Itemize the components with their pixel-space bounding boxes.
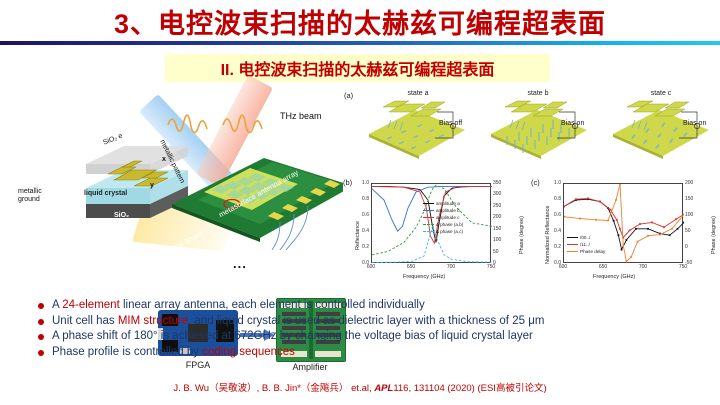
bullet-dot-icon: [38, 319, 44, 325]
legend-label: amplitude c: [436, 214, 460, 221]
thz-beam-label: THz beam: [280, 112, 322, 122]
legend-label: amplitude b: [436, 207, 460, 214]
y-tick-label: 0.8: [356, 196, 369, 202]
chart-c: (c) 6006507007500.00.20.40.60.81.0-50050…: [531, 178, 719, 290]
bullet-plain: A phase shift of 180° is achieved at 672…: [52, 330, 533, 342]
bullet-text: Unit cell has MIM structure, and liquid …: [52, 315, 544, 327]
citation-details: 116, 131104 (2020) (ESI高被引论文): [393, 383, 546, 394]
legend-entry: amplitude a: [423, 200, 463, 207]
schematic-illustration: THz beam SiO₂ e metallic pattern liquid …: [18, 90, 343, 295]
legend-entry: amplitude c: [423, 214, 463, 221]
bullet-highlight: MIM structure: [118, 315, 188, 327]
y2-tick-label: 100: [493, 237, 501, 243]
y2-tick-label: 200: [685, 180, 693, 186]
fpga-label: FPGA: [158, 360, 238, 370]
bullet-plain: , and liquid crystal is used as dielectr…: [188, 315, 544, 327]
bullet-dot-icon: [38, 334, 44, 340]
legend-swatch-icon: [423, 217, 434, 218]
bullet-item: Unit cell has MIM structure, and liquid …: [38, 315, 698, 327]
unit-cell-states-graphic: [343, 98, 719, 168]
legend-swatch-icon: [423, 224, 434, 225]
bullet-plain: Unit cell has: [52, 315, 118, 327]
bullet-item: A phase shift of 180° is achieved at 672…: [38, 330, 698, 342]
legend-swatch-icon: [423, 203, 434, 204]
bullet-text: A phase shift of 180° is achieved at 672…: [52, 330, 533, 342]
page-title: 3、电控波束扫描的太赫兹可编程超表面: [0, 2, 720, 41]
ellipsis-label: ...: [233, 257, 247, 271]
legend-label: Δ phase (a,b): [436, 221, 463, 228]
bullet-list: A 24-element linear array antenna, each …: [38, 299, 698, 361]
bullet-text: A 24-element linear array antenna, each …: [52, 299, 425, 311]
y-tick-label: 0.6: [356, 212, 369, 218]
legend-entry: Phase delay: [567, 248, 605, 255]
x-tick-label: 650: [599, 264, 607, 270]
y2-tick-label: 50: [685, 228, 691, 234]
x-tick-label: 650: [407, 264, 415, 270]
chart-c-y2label: Phase (degree): [711, 216, 717, 254]
legend-entry: /00../: [567, 234, 605, 241]
legend-swatch-icon: [423, 231, 434, 232]
x-tick-label: 700: [447, 264, 455, 270]
bullet-item: A 24-element linear array antenna, each …: [38, 299, 698, 311]
legend-entry: amplitude b: [423, 207, 463, 214]
chart-b: (b) 6006507007500.00.20.40.60.81.0050100…: [343, 178, 527, 290]
citation-line: J. B. Wu（吴敬波）, B. B. Jin*（金飚兵） et.al, AP…: [0, 380, 720, 394]
y2-tick-label: 150: [493, 226, 501, 232]
bullet-dot-icon: [38, 350, 44, 356]
legend-label: Δ phase (a,c): [436, 228, 463, 235]
metallic-ground-label: metallic ground: [18, 188, 42, 203]
legend-swatch-icon: [423, 210, 434, 211]
bias-on-label-b: Bias on: [561, 120, 584, 127]
bullet-plain: A: [52, 299, 62, 311]
y2-tick-label: 100: [685, 212, 693, 218]
chart-b-xlabel: Frequency (GHz): [403, 274, 445, 280]
chart-b-ylabel: Reflectance: [355, 221, 361, 250]
bullet-highlight: 24-element: [62, 299, 120, 311]
chart-b-y2label: Phase (degree): [519, 216, 525, 254]
amplifier-label: Amplifier: [270, 362, 350, 372]
legend-label: /11../: [580, 241, 590, 248]
y2-tick-label: 200: [493, 214, 501, 220]
section-banner: II. 电控波束扫描的太赫兹可编程超表面: [165, 54, 550, 82]
chart-b-tag: (b): [343, 178, 352, 187]
y2-tick-label: 150: [685, 196, 693, 202]
legend-swatch-icon: [567, 244, 578, 245]
legend-label: Phase delay: [580, 248, 605, 255]
legend-label: amplitude a: [436, 200, 460, 207]
title-divider: [0, 41, 720, 45]
y2-tick-label: -50: [685, 260, 692, 266]
bullet-item: Phase profile is controlled by coding se…: [38, 346, 698, 358]
state-b-label: state b: [508, 90, 568, 97]
chart-c-ylabel: Normalized Reflectance: [545, 206, 551, 264]
axis-y-label: y: [150, 182, 154, 190]
legend-swatch-icon: [567, 237, 578, 238]
bullet-plain: linear array antenna, each element is co…: [120, 299, 425, 311]
y-tick-label: 0.0: [356, 260, 369, 266]
bullet-dot-icon: [38, 303, 44, 309]
y-tick-label: 0.8: [548, 196, 561, 202]
bias-off-label-a: Bias off: [439, 120, 462, 127]
y2-tick-label: 250: [493, 203, 501, 209]
state-c-label: state c: [631, 90, 691, 97]
liquid-crystal-label: liquid crystal: [84, 190, 127, 198]
y2-tick-label: 50: [493, 249, 499, 255]
chart-c-xlabel: Frequency (GHz): [593, 274, 635, 280]
results-figure-panel: (a) state a state b state c: [343, 90, 719, 295]
legend-swatch-icon: [567, 251, 578, 252]
y2-tick-label: 300: [493, 191, 501, 197]
chart-b-legend: amplitude aamplitude bamplitude cΔ phase…: [423, 200, 463, 235]
y-tick-label: 1.0: [548, 180, 561, 186]
bullet-text: Phase profile is controlled by coding se…: [52, 346, 295, 358]
legend-entry: Δ phase (a,c): [423, 228, 463, 235]
legend-label: /00../: [580, 234, 590, 241]
bullet-plain: Phase profile is controlled by: [52, 346, 202, 358]
legend-entry: /11../: [567, 241, 605, 248]
citation-journal: APL: [374, 383, 393, 394]
state-a-label: state a: [388, 90, 448, 97]
axis-x-label: x: [162, 156, 166, 164]
citation-authors: J. B. Wu（吴敬波）, B. B. Jin*（金飚兵） et.al,: [173, 383, 374, 394]
y2-tick-label: 0: [685, 244, 688, 250]
y2-tick-label: 350: [493, 180, 501, 186]
section-banner-label: II. 电控波束扫描的太赫兹可编程超表面: [221, 56, 495, 80]
chart-c-tag: (c): [531, 178, 540, 187]
bias-on-label-c: Bias on: [683, 120, 706, 127]
sio2-label: SiO₂: [114, 212, 129, 220]
chart-c-legend: /00..//11../Phase delay: [567, 234, 605, 255]
legend-entry: Δ phase (a,b): [423, 221, 463, 228]
bullet-highlight: coding sequences: [202, 346, 295, 358]
x-tick-label: 700: [639, 264, 647, 270]
y-tick-label: 1.0: [356, 180, 369, 186]
y2-tick-label: 0: [493, 260, 496, 266]
